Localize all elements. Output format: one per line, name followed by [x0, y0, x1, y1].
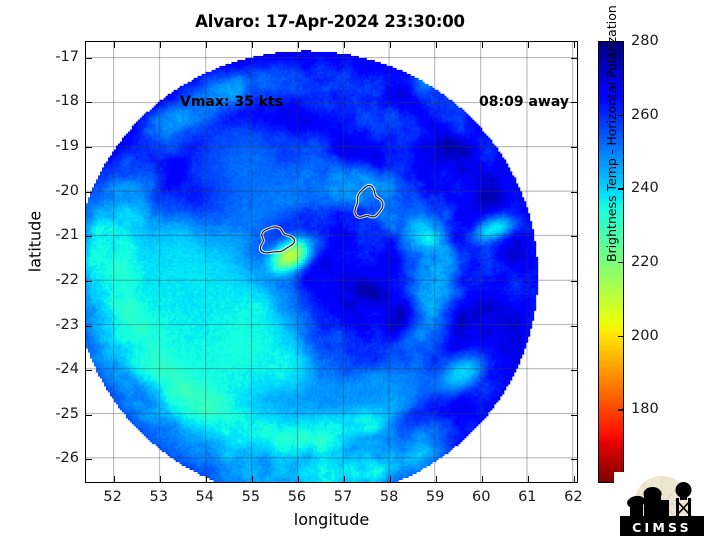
page-title: Alvaro: 17-Apr-2024 23:30:00 [0, 12, 660, 31]
x-axis-title: longitude [85, 510, 578, 529]
microwave-satellite-figure: Alvaro: 17-Apr-2024 23:30:00 Vmax: 35 kt… [0, 0, 720, 540]
colorbar-tickmark-180 [618, 409, 624, 410]
x-tickmark [436, 42, 437, 48]
x-tickmark [482, 42, 483, 48]
latitude-tick-neg25: -25 [37, 406, 79, 422]
x-tickmark [574, 42, 575, 48]
x-tickmark [436, 476, 437, 482]
cimss-logo: CIMSS [614, 472, 718, 540]
x-tickmark [344, 476, 345, 482]
latitude-tick-neg17: -17 [37, 49, 79, 65]
x-tickmark [252, 42, 253, 48]
y-tickmark [86, 102, 92, 103]
longitude-tick-55: 55 [231, 489, 271, 505]
x-tickmark [114, 476, 115, 482]
longitude-tick-58: 58 [369, 489, 409, 505]
latitude-tick-neg24: -24 [37, 361, 79, 377]
y-tickmark [86, 236, 92, 237]
y-tickmark [571, 147, 577, 148]
map-plot-area: Vmax: 35 kts 08:09 away [85, 41, 578, 483]
y-tickmark [571, 192, 577, 193]
longitude-tick-59: 59 [415, 489, 455, 505]
colorbar-tick-260: 260 [631, 107, 659, 123]
colorbar-tickmark-200 [618, 336, 624, 337]
colorbar-tick-220: 220 [631, 254, 659, 270]
colorbar-tickmark-220 [618, 262, 624, 263]
y-tickmark [86, 326, 92, 327]
y-tickmark [571, 236, 577, 237]
y-tickmark [571, 459, 577, 460]
y-tickmark [571, 58, 577, 59]
x-tickmark [574, 476, 575, 482]
vmax-annotation: Vmax: 35 kts [180, 94, 283, 110]
cimss-logo-graphic: CIMSS [614, 472, 718, 540]
longitude-tick-57: 57 [323, 489, 363, 505]
x-tickmark [390, 42, 391, 48]
x-tickmark [160, 42, 161, 48]
longitude-tick-56: 56 [277, 489, 317, 505]
colorbar-title: Brightness Temp - Horizontal Polarizatio… [604, 0, 619, 262]
colorbar-tick-280: 280 [631, 33, 659, 49]
colorbar-tick-240: 240 [631, 180, 659, 196]
y-tickmark [86, 58, 92, 59]
y-tickmark [86, 147, 92, 148]
x-tickmark [482, 476, 483, 482]
longitude-tick-labels: 5253545556575859606162 [85, 489, 578, 509]
y-tickmark [86, 281, 92, 282]
x-tickmark [344, 42, 345, 48]
y-tickmark [571, 415, 577, 416]
latitude-tick-neg26: -26 [37, 450, 79, 466]
x-tickmark [528, 476, 529, 482]
cimss-logo-text: CIMSS [632, 520, 692, 535]
y-tickmark [571, 281, 577, 282]
y-tickmark [86, 415, 92, 416]
x-tickmark [206, 42, 207, 48]
longitude-tick-61: 61 [507, 489, 547, 505]
longitude-tick-53: 53 [139, 489, 179, 505]
y-tickmark [571, 326, 577, 327]
y-tickmark [571, 102, 577, 103]
y-tickmark [86, 370, 92, 371]
y-axis-title: latitude [26, 182, 45, 302]
x-tickmark [298, 42, 299, 48]
time-away-annotation: 08:09 away [479, 94, 569, 110]
y-tickmark [86, 459, 92, 460]
x-tickmark [206, 476, 207, 482]
latitude-tick-neg23: -23 [37, 317, 79, 333]
x-tickmark [114, 42, 115, 48]
x-tickmark [252, 476, 253, 482]
x-tickmark [298, 476, 299, 482]
latitude-tick-neg18: -18 [37, 93, 79, 109]
colorbar-tick-180: 180 [631, 401, 659, 417]
y-tickmark [571, 370, 577, 371]
x-tickmark [160, 476, 161, 482]
colorbar-tick-200: 200 [631, 328, 659, 344]
x-tickmark [528, 42, 529, 48]
latitude-tick-neg19: -19 [37, 138, 79, 154]
x-tickmark [390, 476, 391, 482]
longitude-tick-52: 52 [93, 489, 133, 505]
longitude-tick-54: 54 [185, 489, 225, 505]
y-tickmark [86, 192, 92, 193]
longitude-tick-60: 60 [461, 489, 501, 505]
longitude-tick-62: 62 [553, 489, 593, 505]
